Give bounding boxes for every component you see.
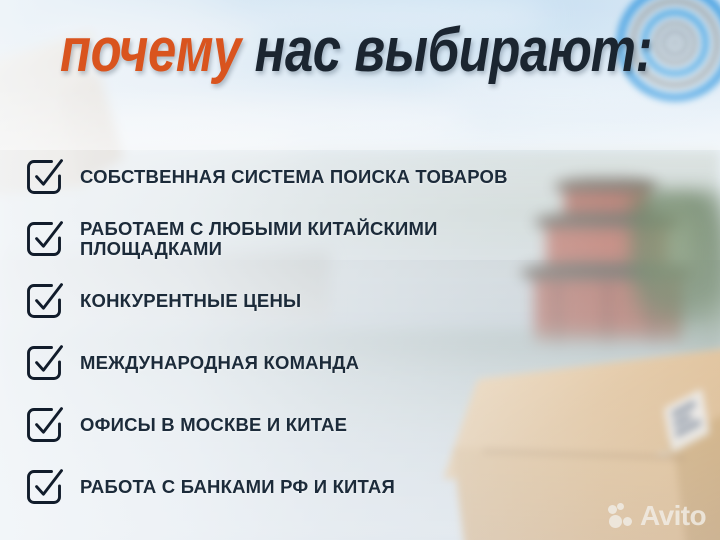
list-item-label: ОФИСЫ В МОСКВЕ И КИТАЕ bbox=[80, 415, 347, 435]
list-item: РАБОТА С БАНКАМИ РФ И КИТАЯ bbox=[24, 456, 694, 518]
headline-main-text: нас выбирают: bbox=[255, 16, 652, 85]
list-item: ОФИСЫ В МОСКВЕ И КИТАЕ bbox=[24, 394, 694, 456]
promo-banner: почему нас выбирают: СОБСТВЕННАЯ СИСТЕМА… bbox=[0, 0, 720, 540]
checkbox-check-icon bbox=[24, 157, 64, 197]
checkbox-check-icon bbox=[24, 405, 64, 445]
checkbox-check-icon bbox=[24, 281, 64, 321]
headline-accent-word: почему bbox=[60, 16, 241, 85]
checkbox-check-icon bbox=[24, 343, 64, 383]
page-title: почему нас выбирают: bbox=[60, 20, 652, 82]
headline-space bbox=[241, 16, 255, 85]
list-item-label: СОБСТВЕННАЯ СИСТЕМА ПОИСКА ТОВАРОВ bbox=[80, 167, 508, 187]
list-item: СОБСТВЕННАЯ СИСТЕМА ПОИСКА ТОВАРОВ bbox=[24, 146, 694, 208]
list-item: КОНКУРЕНТНЫЕ ЦЕНЫ bbox=[24, 270, 694, 332]
avito-wordmark: Avito bbox=[640, 502, 706, 530]
list-item: МЕЖДУНАРОДНАЯ КОМАНДА bbox=[24, 332, 694, 394]
avito-watermark: Avito bbox=[608, 502, 706, 530]
list-item-label: КОНКУРЕНТНЫЕ ЦЕНЫ bbox=[80, 291, 301, 311]
checkbox-check-icon bbox=[24, 219, 64, 259]
feature-list: СОБСТВЕННАЯ СИСТЕМА ПОИСКА ТОВАРОВ РАБОТ… bbox=[24, 146, 694, 518]
list-item-label: РАБОТАЕМ С ЛЮБЫМИ КИТАЙСКИМИ ПЛОЩАДКАМИ bbox=[80, 219, 438, 258]
list-item-label: РАБОТА С БАНКАМИ РФ И КИТАЯ bbox=[80, 477, 395, 497]
list-item: РАБОТАЕМ С ЛЮБЫМИ КИТАЙСКИМИ ПЛОЩАДКАМИ bbox=[24, 208, 694, 270]
avito-dots-icon bbox=[608, 503, 634, 529]
list-item-label: МЕЖДУНАРОДНАЯ КОМАНДА bbox=[80, 353, 359, 373]
checkbox-check-icon bbox=[24, 467, 64, 507]
